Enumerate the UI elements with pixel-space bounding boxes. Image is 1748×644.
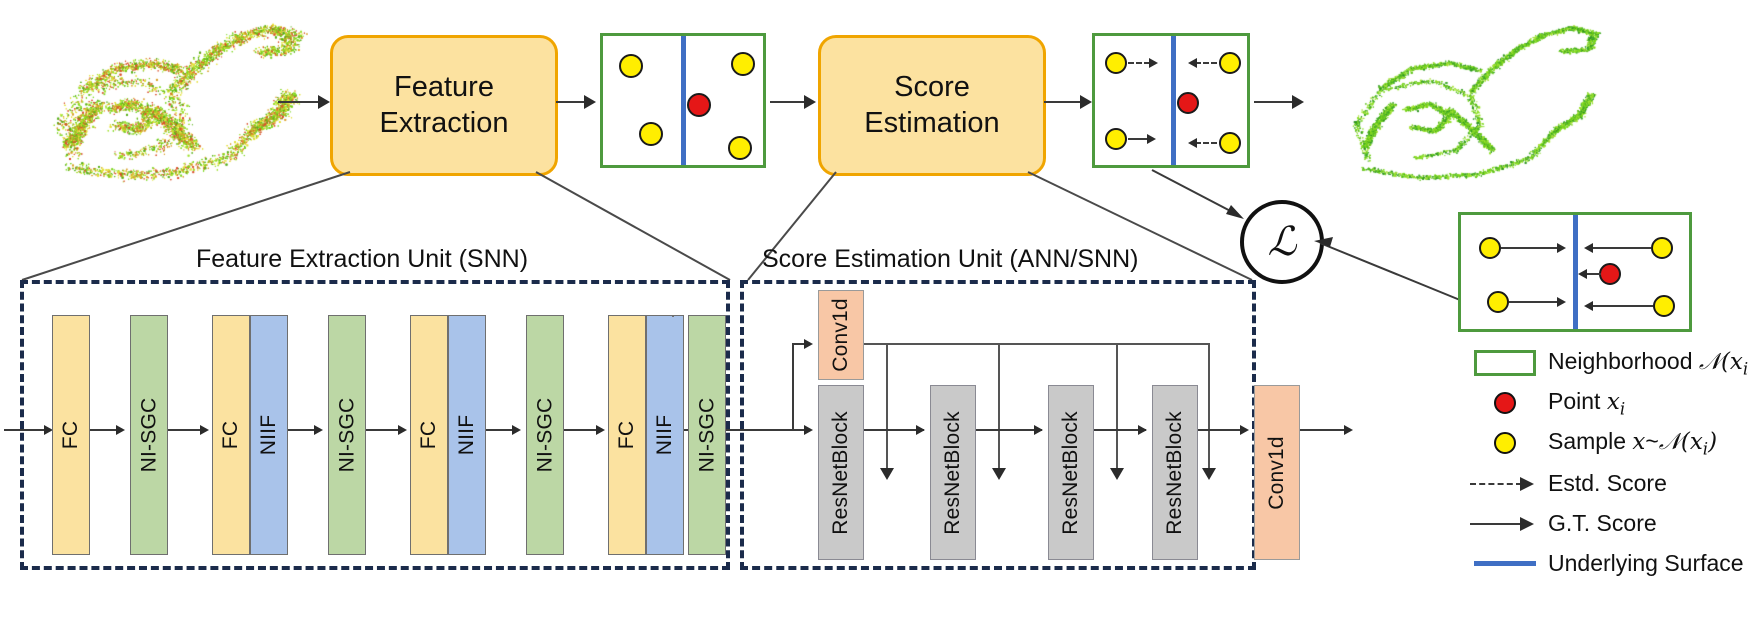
legend-item-gt-score: G.T. Score	[1462, 510, 1657, 537]
diagram-canvas: Feature Extraction Score Estimation	[0, 0, 1748, 644]
legend-label-underlying-surface: Underlying Surface	[1548, 550, 1744, 577]
sample-point	[639, 122, 663, 146]
estimated-score-arrow-head	[1188, 58, 1197, 68]
legend-label-point: Point xi	[1548, 388, 1625, 419]
gt-score-arrow-line	[1509, 301, 1559, 303]
se-skip-drop	[1208, 343, 1210, 475]
arrow-se-to-nbox2-line	[1044, 101, 1084, 103]
layer-fc[interactable]: FC	[52, 315, 90, 555]
legend-item-sample: Sample x~𝒩(xi)	[1462, 428, 1717, 459]
fe-connector-head	[512, 425, 521, 435]
feature-extraction-label-line2: Extraction	[380, 106, 509, 141]
block-resnet[interactable]: ResNetBlock	[930, 385, 976, 560]
estimated-score-arrow-head	[1149, 58, 1158, 68]
blue-line-icon	[1462, 561, 1548, 566]
block-resnet[interactable]: ResNetBlock	[818, 385, 864, 560]
underlying-surface-line	[681, 36, 686, 165]
neighborhood-before-box	[600, 33, 766, 168]
arrow-se-to-nbox2-head	[1080, 95, 1092, 109]
block-conv1d-output[interactable]: Conv1d	[1254, 385, 1300, 560]
estimated-score-arrow-line	[1195, 62, 1217, 64]
layer-ni-sgc[interactable]: NI-SGC	[526, 315, 564, 555]
fe-connector-head	[596, 425, 605, 435]
se-skip-bus	[864, 343, 1210, 345]
score-estimation-layer-stack: Conv1d ResNetBlock ResNetBlock ResNetBlo…	[740, 280, 1256, 570]
sample-point	[728, 136, 752, 160]
arrow-fe-to-nbox-head	[584, 95, 596, 109]
gt-score-arrow-line	[1587, 273, 1601, 275]
legend-label-neighborhood: Neighborhood 𝒩(xi)	[1548, 348, 1748, 379]
se-skip-drop-head	[1202, 468, 1216, 480]
sample-point	[1105, 52, 1127, 74]
layer-ni-sgc[interactable]: NI-SGC	[688, 315, 726, 555]
se-skip-drop-head	[992, 468, 1006, 480]
neighborhood-after-box	[1092, 33, 1250, 168]
arrow-nbox2-to-output-line	[1254, 101, 1296, 103]
score-estimation-unit-title: Score Estimation Unit (ANN/SNN)	[762, 245, 1138, 274]
fe-connector-head	[200, 425, 209, 435]
block-resnet[interactable]: ResNetBlock	[1048, 385, 1094, 560]
layer-fc[interactable]: FC	[212, 315, 250, 555]
legend-item-underlying-surface: Underlying Surface	[1462, 550, 1744, 577]
estimated-score-arrow-head	[1188, 138, 1197, 148]
score-arrow-line	[1128, 138, 1148, 140]
estimated-score-arrow-line	[1195, 142, 1217, 144]
score-arrow-head	[1147, 134, 1156, 144]
layer-fc[interactable]: FC	[608, 315, 646, 555]
loss-node: ℒ	[1240, 200, 1324, 284]
layer-niif[interactable]: NIIF	[250, 315, 288, 555]
fe-connector	[564, 429, 600, 431]
center-point	[1177, 92, 1199, 114]
legend: Neighborhood 𝒩(xi) Point xi Sample x~𝒩(x…	[1462, 348, 1748, 578]
center-point	[1599, 263, 1621, 285]
se-main-head	[1034, 425, 1043, 435]
se-main-line	[864, 429, 924, 431]
feature-extraction-layer-stack: FC NI-SGC FC NIIF NI-SGC FC NIIF NI-SGC …	[20, 280, 730, 570]
se-main-head	[916, 425, 925, 435]
fe-connector-head	[116, 425, 125, 435]
sample-point	[1219, 52, 1241, 74]
underlying-surface-line	[1171, 36, 1176, 165]
score-estimation-label-line1: Score	[864, 70, 999, 105]
noisy-point-cloud-dragon	[8, 4, 308, 194]
se-unit-output-head	[1344, 425, 1353, 435]
se-main-line	[1198, 429, 1246, 431]
red-dot-icon	[1462, 392, 1548, 414]
layer-ni-sgc[interactable]	[672, 315, 674, 317]
fe-connector	[366, 429, 402, 431]
legend-item-point: Point xi	[1462, 388, 1625, 419]
feature-extraction-unit-title: Feature Extraction Unit (SNN)	[196, 245, 528, 274]
sample-point	[1487, 291, 1509, 313]
gt-score-arrow-head	[1584, 301, 1593, 311]
layer-niif[interactable]: NIIF	[646, 315, 684, 555]
neighborhood-box-icon	[1462, 350, 1548, 376]
gt-score-arrow-head	[1557, 297, 1566, 307]
yellow-dot-icon	[1462, 432, 1548, 454]
sample-point	[1105, 128, 1127, 150]
score-estimation-label-line2: Estimation	[864, 106, 999, 141]
arrow-nbox-to-se-head	[804, 95, 816, 109]
fe-connector-head	[314, 425, 323, 435]
fe-connector	[168, 429, 204, 431]
sample-point	[1219, 132, 1241, 154]
sample-point	[1653, 295, 1675, 317]
gt-score-arrow-head	[1578, 269, 1587, 279]
gt-score-arrow-line	[1501, 247, 1559, 249]
center-point	[687, 93, 711, 117]
dashed-arrow-icon	[1462, 477, 1548, 491]
se-skip-drop	[886, 343, 888, 475]
feature-extraction-label-line1: Feature	[380, 70, 509, 105]
arrow-input-to-feature-line	[278, 101, 320, 103]
gt-score-arrow-line	[1593, 305, 1653, 307]
sample-point	[1651, 237, 1673, 259]
sample-point	[731, 52, 755, 76]
legend-label-estimated-score: Estd. Score	[1548, 470, 1667, 497]
block-conv1d-skip[interactable]: Conv1d	[818, 290, 864, 380]
se-main-head	[1138, 425, 1147, 435]
legend-label-sample: Sample x~𝒩(xi)	[1548, 428, 1717, 459]
sample-point	[619, 54, 643, 78]
se-unit-output-line	[1300, 429, 1350, 431]
layer-fc[interactable]: FC	[410, 315, 448, 555]
se-main-line	[976, 429, 1042, 431]
layer-niif[interactable]: NIIF	[448, 315, 486, 555]
score-estimation-box[interactable]: Score Estimation	[818, 35, 1046, 176]
denoised-point-cloud-dragon	[1300, 2, 1610, 197]
layer-ni-sgc[interactable]: NI-SGC	[130, 315, 168, 555]
neighborhood-ground-truth-box	[1458, 212, 1692, 332]
se-skip-drop	[1116, 343, 1118, 475]
se-main-head	[804, 425, 813, 435]
se-split-vline	[792, 343, 794, 431]
gt-score-arrow-head	[1584, 243, 1593, 253]
se-skip-drop-head	[1110, 468, 1124, 480]
legend-label-gt-score: G.T. Score	[1548, 510, 1657, 537]
sample-point	[1479, 237, 1501, 259]
arrow-input-to-feature-head	[318, 95, 330, 109]
se-skip-drop	[998, 343, 1000, 475]
gt-score-arrow-line	[1593, 247, 1651, 249]
legend-item-estimated-score: Estd. Score	[1462, 470, 1667, 497]
se-skip-head	[804, 339, 813, 349]
layer-ni-sgc[interactable]: NI-SGC	[328, 315, 366, 555]
legend-item-neighborhood: Neighborhood 𝒩(xi)	[1462, 348, 1748, 379]
gt-score-arrow-head	[1557, 243, 1566, 253]
fe-connector-head	[398, 425, 407, 435]
estimated-score-arrow-line	[1128, 62, 1150, 64]
solid-arrow-icon	[1462, 517, 1548, 531]
feature-extraction-box[interactable]: Feature Extraction	[330, 35, 558, 176]
se-skip-drop-head	[880, 468, 894, 480]
arrow-nbox-to-se-line	[770, 101, 808, 103]
loss-symbol: ℒ	[1268, 219, 1297, 265]
se-main-head	[1240, 425, 1249, 435]
block-resnet[interactable]: ResNetBlock	[1152, 385, 1198, 560]
